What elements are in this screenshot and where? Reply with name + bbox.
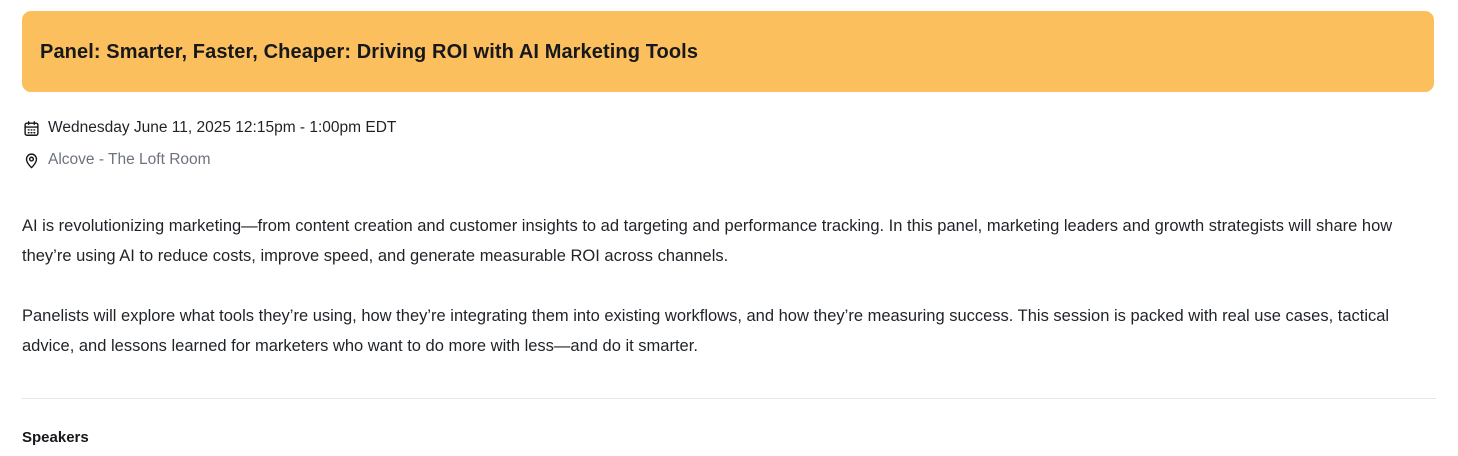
- session-datetime-row: Wednesday June 11, 2025 12:15pm - 1:00pm…: [22, 116, 922, 140]
- session-meta-list: Wednesday June 11, 2025 12:15pm - 1:00pm…: [22, 116, 922, 180]
- session-detail-page: Panel: Smarter, Faster, Cheaper: Driving…: [0, 0, 1458, 456]
- speakers-heading: Speakers: [22, 428, 89, 448]
- section-divider: [22, 398, 1436, 399]
- session-location-row: Alcove - The Loft Room: [22, 148, 922, 172]
- calendar-icon: [22, 119, 40, 137]
- map-pin-icon: [22, 151, 40, 169]
- session-title: Panel: Smarter, Faster, Cheaper: Driving…: [22, 39, 698, 65]
- session-location: Alcove - The Loft Room: [48, 150, 211, 170]
- session-datetime: Wednesday June 11, 2025 12:15pm - 1:00pm…: [48, 118, 396, 138]
- description-paragraph-1: AI is revolutionizing marketing—from con…: [22, 211, 1434, 271]
- description-paragraph-2: Panelists will explore what tools they’r…: [22, 301, 1434, 361]
- session-description: AI is revolutionizing marketing—from con…: [22, 211, 1434, 361]
- session-title-banner: Panel: Smarter, Faster, Cheaper: Driving…: [22, 11, 1434, 92]
